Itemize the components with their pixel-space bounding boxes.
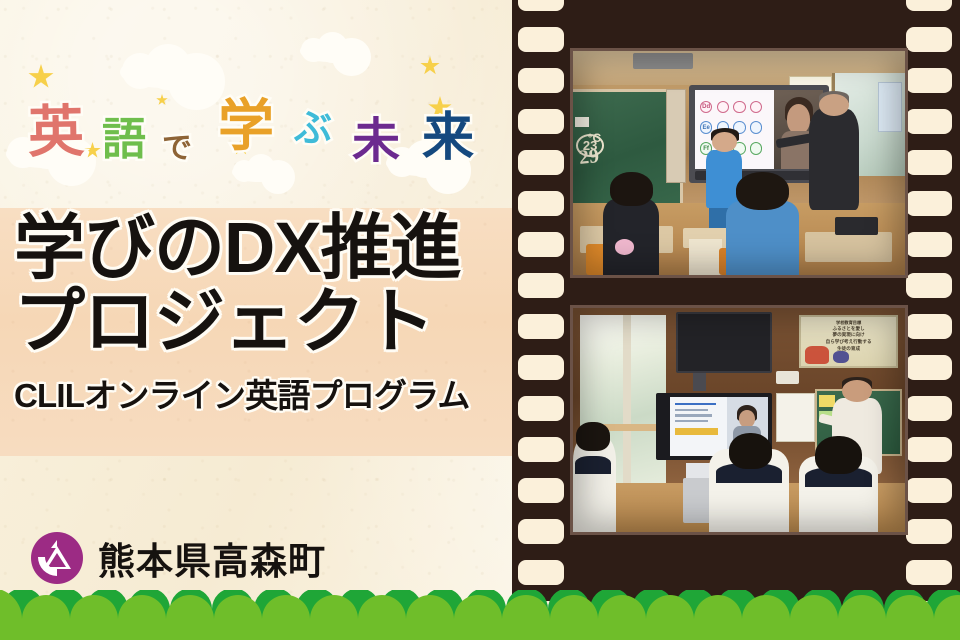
alphabet-card-picture: [733, 101, 745, 113]
kicker-char-4: ぶ: [294, 110, 332, 148]
photo-junior-high-online-english-class: 学校教育目標ふるさとを愛し夢の実現に向け自ら学び考え行動する生徒の育成: [573, 308, 905, 532]
filmstrip-perforation: [518, 68, 564, 93]
filmstrip-perforation: [518, 437, 564, 462]
filmstrip-perforation: [906, 191, 952, 216]
filmstrip-perforation: [518, 191, 564, 216]
filmstrip-perforation: [518, 150, 564, 175]
kicker-char-3: 学: [218, 98, 274, 154]
filmstrip-perforation: [518, 396, 564, 421]
kicker-char-0: 英: [28, 104, 85, 161]
filmstrip-perforation: [906, 437, 952, 462]
filmstrip-perforation: [518, 0, 564, 11]
filmstrip-perforation: [906, 0, 952, 11]
grass-front-shape: [0, 590, 960, 640]
filmstrip-perforation: [518, 232, 564, 257]
star-decoration-0: [28, 64, 54, 90]
filmstrip-perforation: [906, 273, 952, 298]
headline-group: 学びのDX推進 プロジェクト CLILオンライン英語プログラム: [0, 214, 512, 417]
kicker-char-1: 語: [102, 118, 146, 162]
alphabet-card-picture: [717, 101, 729, 113]
filmstrip-perforation: [906, 314, 952, 339]
filmstrip-perforation: [906, 27, 952, 52]
poster-canvas: 英語で学ぶ未来 学びのDX推進 プロジェクト CLILオンライン英語プログラム …: [0, 0, 960, 640]
filmstrip-perforation: [906, 396, 952, 421]
filmstrip-perforation: [518, 355, 564, 380]
filmstrip-perforation: [906, 150, 952, 175]
banner-line: 自ら学び考え行動する: [805, 339, 893, 346]
ceiling-speaker-icon: [633, 53, 693, 69]
filmstrip-perforations-right: [906, 0, 952, 640]
filmstrip-perforation: [518, 109, 564, 134]
headline-line-2: プロジェクト: [0, 288, 512, 358]
student-figure-left: [573, 438, 616, 532]
filmstrip-perforation: [518, 560, 564, 585]
filmstrip-perforation: [906, 355, 952, 380]
filmstrip-perforation: [906, 109, 952, 134]
filmstrip: 23 °C 29 DdEeFf: [512, 0, 960, 640]
headline-line-1: 学びのDX推進: [0, 214, 512, 284]
left-content-panel: 英語で学ぶ未来 学びのDX推進 プロジェクト CLILオンライン英語プログラム …: [0, 0, 512, 640]
filmstrip-perforation: [906, 519, 952, 544]
cloud-decoration-0: [120, 56, 206, 88]
cloud-decoration-2: [300, 40, 358, 62]
alphabet-card-picture: [750, 101, 762, 113]
kicker-char-6: 来: [422, 112, 474, 164]
filmstrip-perforation: [518, 519, 564, 544]
kicker-title: 英語で学ぶ未来: [22, 88, 492, 184]
teacher-figure: [809, 109, 859, 210]
filmstrip-perforation: [906, 478, 952, 503]
filmstrip-perforation: [906, 68, 952, 93]
laptop-icon: [835, 217, 878, 235]
filmstrip-perforation: [518, 27, 564, 52]
kicker-char-5: 未: [352, 118, 400, 166]
brand-name-label: 熊本県高森町: [98, 531, 326, 585]
star-decoration-1: [420, 56, 440, 76]
seated-student-figure-2: [726, 201, 799, 275]
alphabet-card-row: Dd: [700, 98, 769, 115]
seated-student-figure-1: [603, 199, 659, 275]
whiteboard: [776, 393, 816, 442]
alphabet-card-picture: [750, 121, 762, 133]
filmstrip-perforation: [518, 314, 564, 339]
chalkboard-temp-unit: °C: [588, 132, 601, 144]
wall-mounted-monitor: [676, 312, 772, 372]
school-goal-banner: 学校教育目標ふるさとを愛し夢の実現に向け自ら学び考え行動する生徒の育成: [799, 315, 899, 369]
alphabet-card-letter: Dd: [700, 101, 712, 113]
filmstrip-perforation: [518, 478, 564, 503]
filmstrip-perforation: [518, 273, 564, 298]
filmstrip-perforation: [906, 232, 952, 257]
photo-elementary-online-english-class: 23 °C 29 DdEeFf: [573, 51, 905, 275]
photo-frame-top[interactable]: 23 °C 29 DdEeFf: [570, 48, 908, 278]
wall-poster-secondary: [878, 82, 901, 131]
filmstrip-perforations-left: [518, 0, 564, 640]
takamori-town-emblem-icon: [30, 531, 84, 585]
brand-footer: 熊本県高森町: [30, 531, 326, 585]
headline-subtitle: CLILオンライン英語プログラム: [0, 369, 512, 417]
grass-footer-decoration: [0, 590, 960, 640]
kicker-char-2: で: [162, 134, 192, 164]
filmstrip-perforation: [906, 560, 952, 585]
chalkboard-number: 29: [578, 146, 600, 168]
photo-frame-bottom[interactable]: 学校教育目標ふるさとを愛し夢の実現に向け自ら学び考え行動する生徒の育成: [570, 305, 908, 535]
alphabet-card-picture: [750, 142, 762, 154]
